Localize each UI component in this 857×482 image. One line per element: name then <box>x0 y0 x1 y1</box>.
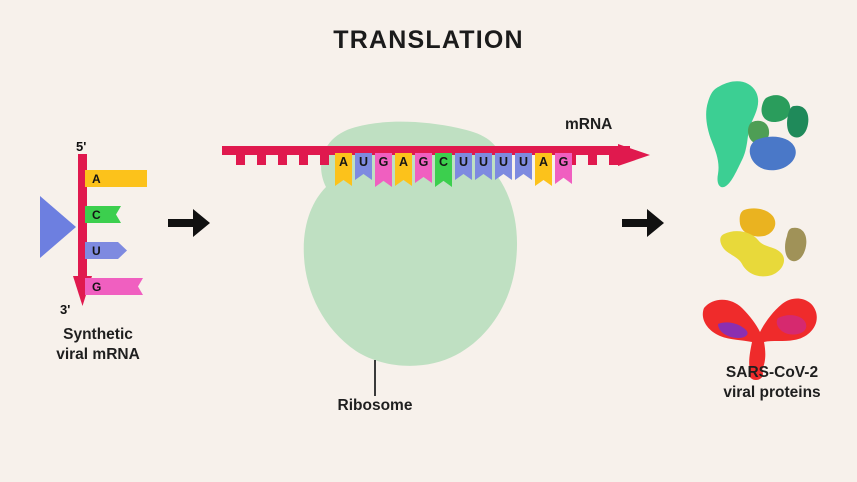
codon-letter: G <box>559 155 569 169</box>
base-bar-u: U <box>85 242 133 259</box>
codon-letter: U <box>519 155 528 169</box>
codon-letter: A <box>539 155 548 169</box>
base-letter-c: C <box>92 208 101 222</box>
viral-proteins-figure <box>690 78 850 328</box>
base-letter-a: A <box>92 172 101 186</box>
codon-letter: G <box>379 155 389 169</box>
base-bar-a: A <box>85 170 147 187</box>
codon-letter: G <box>419 155 429 169</box>
base-letter-u: U <box>92 244 101 258</box>
ribosome-label: Ribosome <box>312 396 438 416</box>
three-prime-label: 3' <box>60 302 70 317</box>
page-title: TRANSLATION <box>0 26 857 55</box>
codon-flag-12: G <box>555 153 572 184</box>
codon-letter: C <box>439 155 448 169</box>
process-arrow-right-icon <box>620 203 666 243</box>
ribosome-translation-figure: A U G A G C U U U U A G <box>222 100 652 420</box>
viral-proteins-caption-line2: viral proteins <box>688 383 856 403</box>
codon-letter: A <box>399 155 408 169</box>
synthetic-mrna-caption: Synthetic viral mRNA <box>18 325 178 365</box>
process-arrow-left-icon <box>166 203 212 243</box>
base-bar-g: G <box>85 278 151 295</box>
codon-letter: U <box>359 155 368 169</box>
viral-proteins-caption-line1: SARS-CoV-2 <box>688 363 856 383</box>
codon-flag-11: A <box>535 153 552 186</box>
codon-letter: A <box>339 155 348 169</box>
base-letter-g: G <box>92 280 101 294</box>
synthetic-mrna-caption-line2: viral mRNA <box>18 345 178 365</box>
mrna-label: mRNA <box>565 116 612 134</box>
synthetic-mrna-caption-line1: Synthetic <box>18 325 178 345</box>
codon-letter: U <box>499 155 508 169</box>
ribosome-leader-line <box>374 360 376 396</box>
codon-letter: U <box>479 155 488 169</box>
nucleocapsid-protein <box>718 206 828 284</box>
viral-proteins-caption: SARS-CoV-2 viral proteins <box>688 363 856 403</box>
spike-protein-complex <box>690 78 820 198</box>
codon-letter: U <box>459 155 468 169</box>
base-bar-c: C <box>85 206 129 223</box>
diagram-canvas: TRANSLATION 5' A C U <box>0 0 857 482</box>
five-prime-label: 5' <box>76 139 86 154</box>
